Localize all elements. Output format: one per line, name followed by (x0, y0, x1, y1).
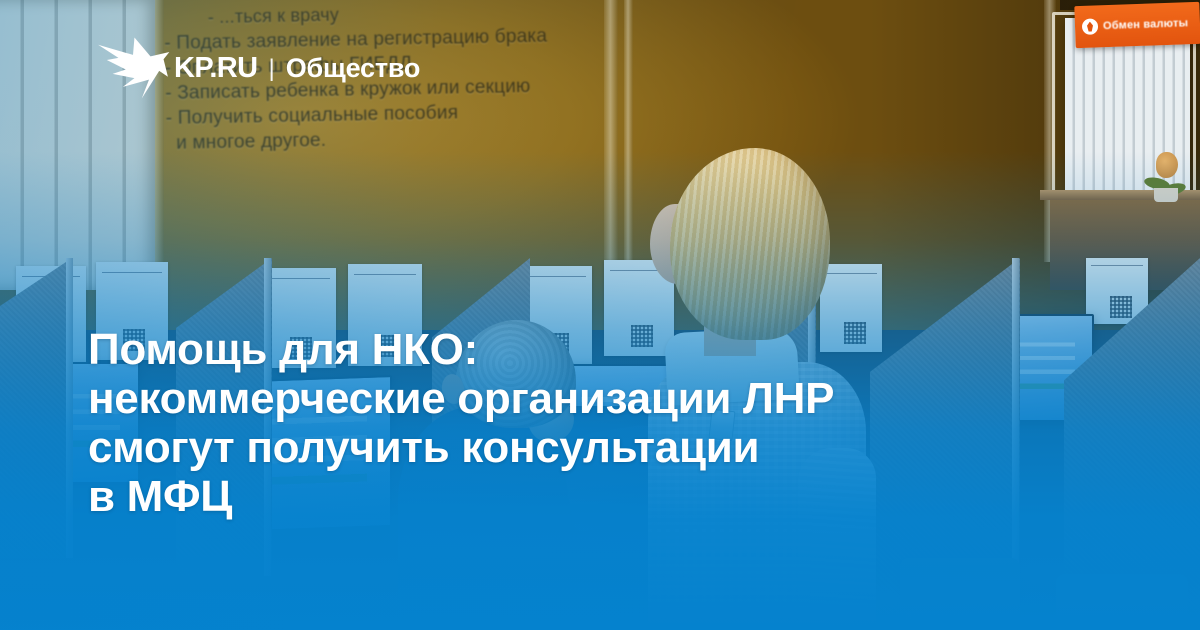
headline-line: некоммерческие организации ЛНР (88, 374, 1108, 423)
article-headline: Помощь для НКО: некоммерческие организац… (88, 325, 1108, 521)
brand-section[interactable]: Общество (286, 53, 421, 84)
brand-name[interactable]: KP.RU (174, 52, 258, 85)
headline-line: смогут получить консультации (88, 423, 1108, 472)
kp-swallow-logo-icon[interactable] (96, 36, 170, 100)
headline-line: Помощь для НКО: (88, 325, 1108, 374)
brand-separator: | (269, 55, 275, 83)
brand-text-group: KP.RU | Общество (174, 52, 420, 85)
headline-line: в МФЦ (88, 472, 1108, 521)
social-share-card: - ...ться к врачу - Подать заявление на … (0, 0, 1200, 630)
brand-header: KP.RU | Общество (96, 36, 420, 100)
